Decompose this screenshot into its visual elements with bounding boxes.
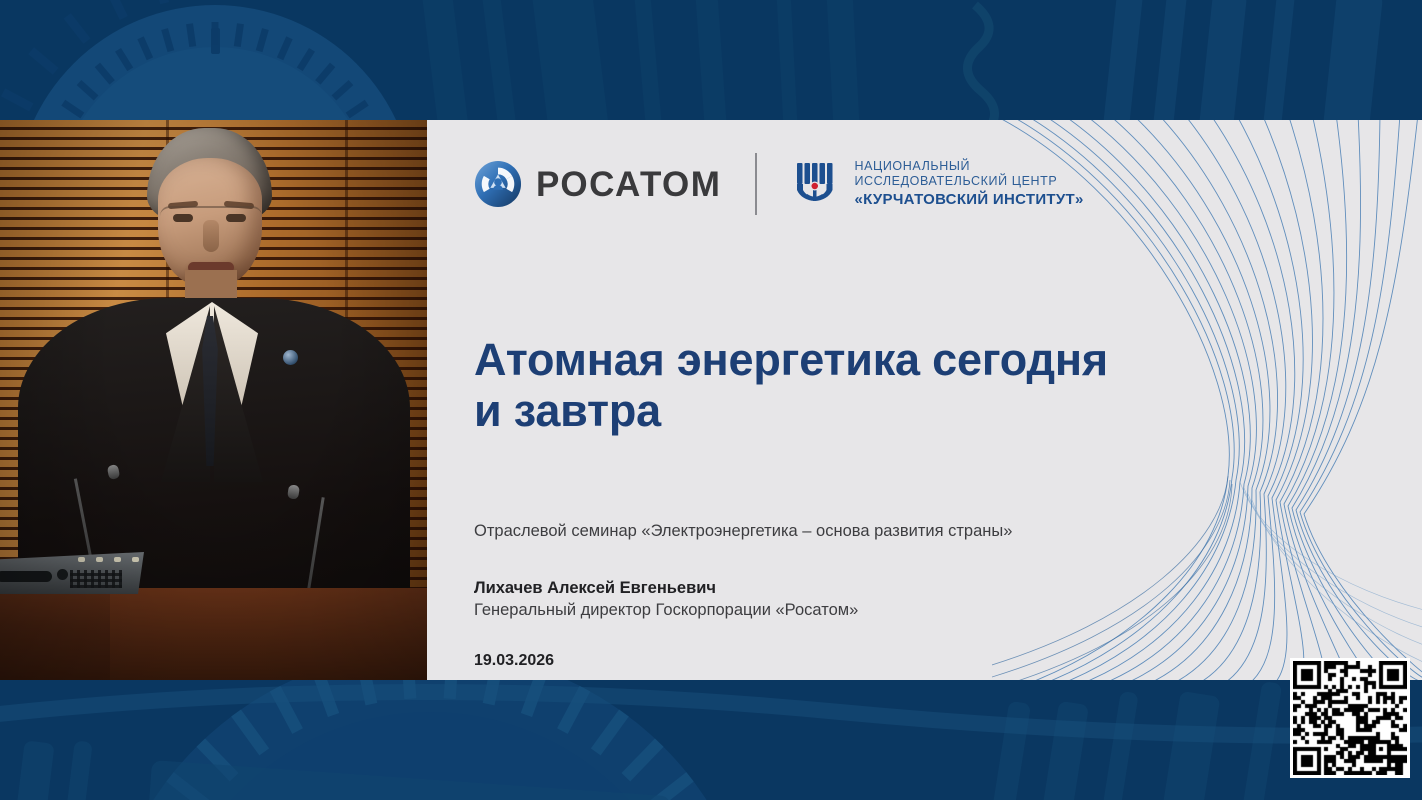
speaker-video-feed[interactable]	[0, 120, 427, 680]
rosatom-logo: РОСАТОМ	[474, 160, 721, 208]
kurchatov-line-1: НАЦИОНАЛЬНЫЙ	[854, 159, 1083, 174]
kurchatov-line-3: «КУРЧАТОВСКИЙ ИНСТИТУТ»	[854, 191, 1083, 209]
rosatom-atom-icon	[474, 160, 522, 208]
speaker-role: Генеральный директор Госкорпорации «Роса…	[474, 599, 1174, 621]
kurchatov-wordmark: НАЦИОНАЛЬНЫЙ ИССЛЕДОВАТЕЛЬСКИЙ ЦЕНТР «КУ…	[854, 159, 1083, 209]
seminar-title: Отраслевой семинар «Электроэнергетика – …	[474, 520, 1174, 543]
qr-code[interactable]	[1290, 658, 1410, 778]
presentation-date: 19.03.2026	[474, 652, 1174, 670]
speaker-name: Лихачев Алексей Евгеньевич	[474, 577, 1174, 599]
slide-content: РОСАТОМ	[427, 120, 1422, 680]
presentation-stage: РОСАТОМ	[0, 0, 1422, 800]
slide-meta: Отраслевой семинар «Электроэнергетика – …	[474, 520, 1174, 670]
kurchatov-line-2: ИССЛЕДОВАТЕЛЬСКИЙ ЦЕНТР	[854, 174, 1083, 189]
qr-code-canvas	[1293, 661, 1407, 775]
logo-row: РОСАТОМ	[474, 153, 1084, 215]
title-line-1: Атомная энергетика сегодня	[474, 334, 1108, 385]
kurchatov-logo: НАЦИОНАЛЬНЫЙ ИССЛЕДОВАТЕЛЬСКИЙ ЦЕНТР «КУ…	[791, 159, 1083, 209]
rosatom-wordmark: РОСАТОМ	[536, 167, 721, 202]
kurchatov-shield-icon	[791, 159, 841, 209]
page-title: Атомная энергетика сегодня и завтра	[474, 335, 1174, 437]
logo-divider	[755, 153, 757, 215]
title-line-2: и завтра	[474, 385, 661, 436]
video-vignette	[0, 120, 427, 680]
